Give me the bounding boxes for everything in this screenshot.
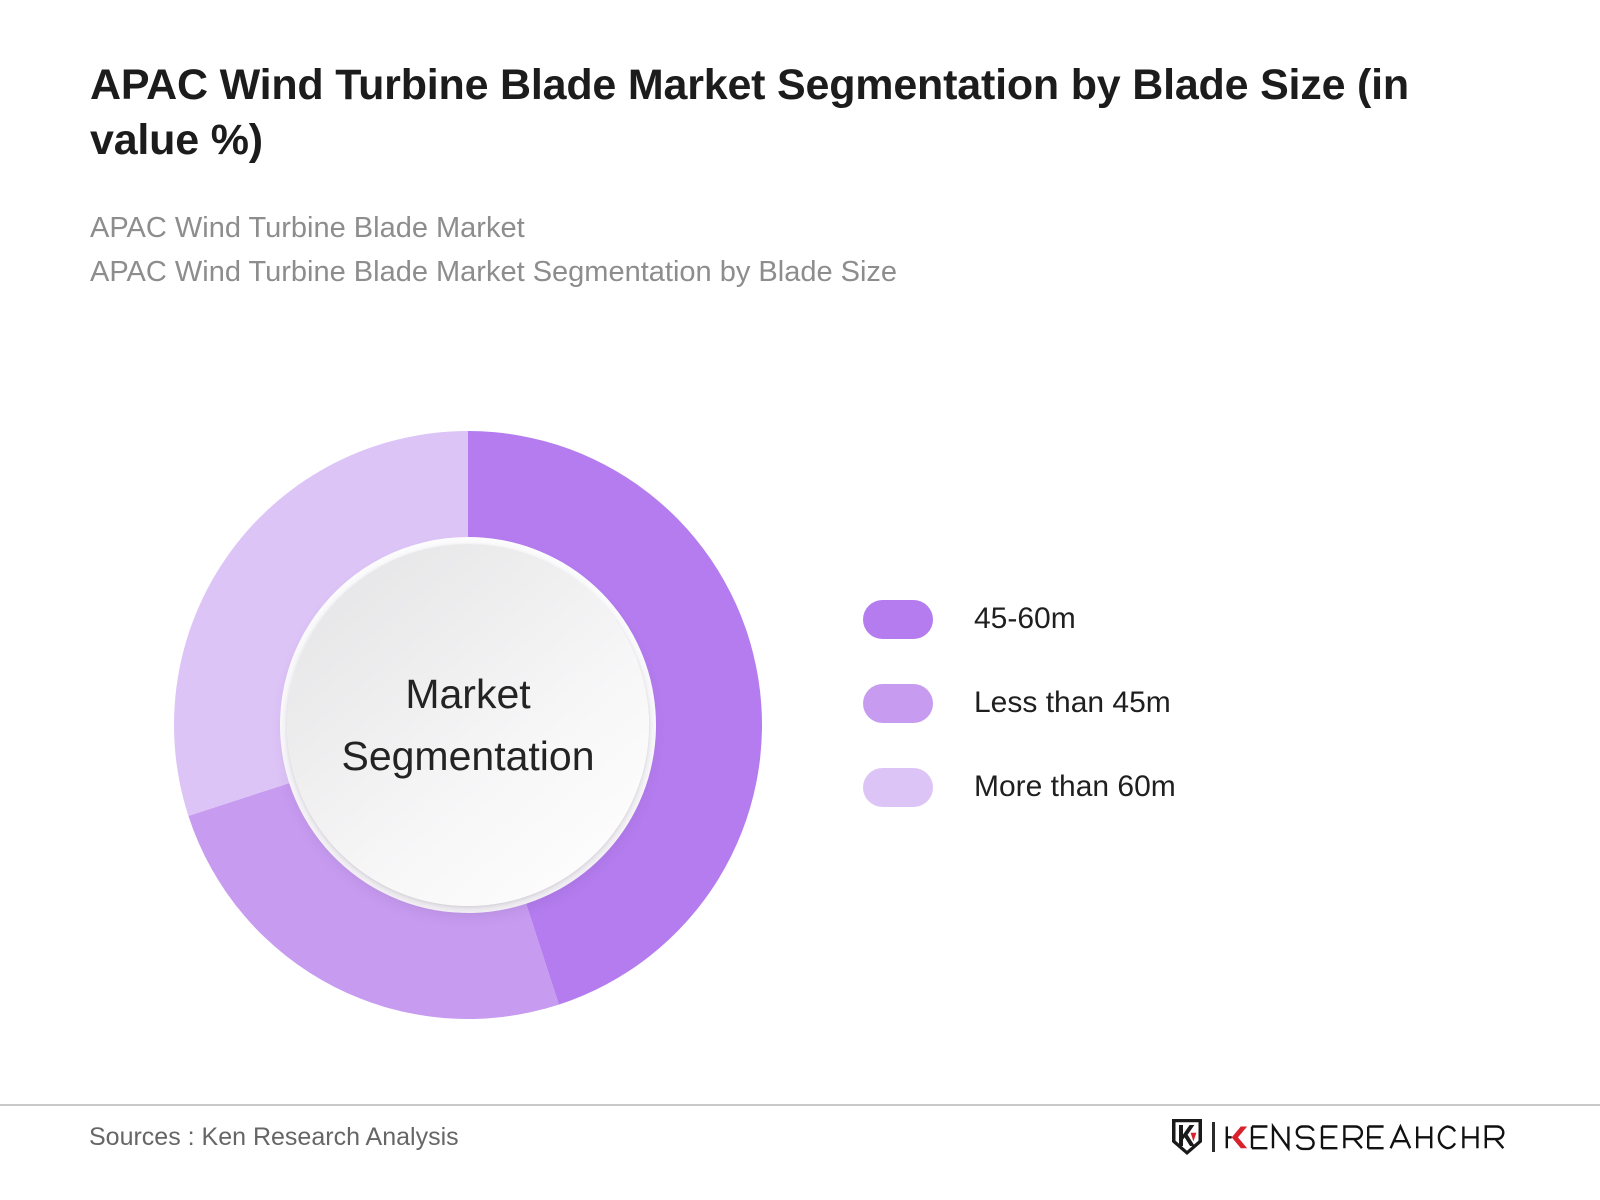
donut-chart: Market Segmentation xyxy=(174,431,762,1019)
legend-swatch-icon-less-than-45m xyxy=(863,684,933,723)
ken-research-logo xyxy=(1170,1117,1518,1157)
footer-divider xyxy=(0,1104,1600,1106)
ken-research-wordmark-icon xyxy=(1224,1123,1518,1151)
legend-item-45-60m[interactable]: 45-60m xyxy=(863,589,1363,649)
logo-separator xyxy=(1212,1122,1215,1152)
legend-label-45-60m: 45-60m xyxy=(974,604,1076,634)
legend-swatch-icon-45-60m xyxy=(863,600,933,639)
sources-text: Sources : Ken Research Analysis xyxy=(89,1120,459,1155)
ken-research-shield-icon xyxy=(1170,1118,1204,1156)
chart-area: Market Segmentation 45-60m Less than 45m… xyxy=(0,0,1600,1090)
legend-item-less-than-45m[interactable]: Less than 45m xyxy=(863,673,1363,733)
legend-label-less-than-45m: Less than 45m xyxy=(974,688,1171,718)
legend-swatch-icon-more-than-60m xyxy=(863,768,933,807)
chart-page: APAC Wind Turbine Blade Market Segmentat… xyxy=(0,0,1600,1200)
chart-legend: 45-60m Less than 45m More than 60m xyxy=(863,589,1363,817)
legend-item-more-than-60m[interactable]: More than 60m xyxy=(863,757,1363,817)
donut-center-label: Market Segmentation xyxy=(287,544,649,906)
center-label-line-1: Market xyxy=(405,663,530,725)
legend-label-more-than-60m: More than 60m xyxy=(974,772,1176,802)
center-label-line-2: Segmentation xyxy=(341,725,594,787)
